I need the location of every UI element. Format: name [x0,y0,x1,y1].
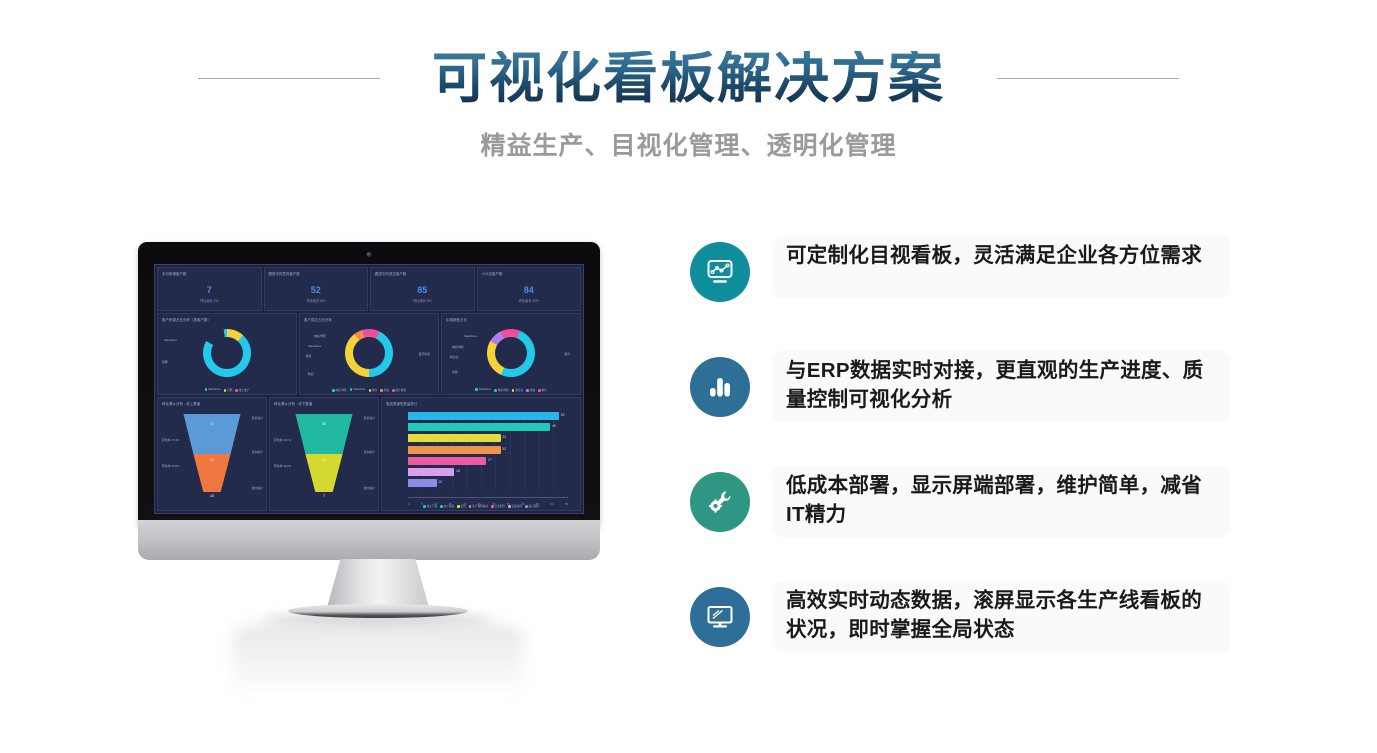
legend-item: 金融 [526,388,535,392]
donut-label: 教育 [564,352,570,356]
feature-text: 低成本部署，显示屏端部署，维护简单，减省IT精力 [786,471,1216,529]
bar-row: 27 [408,457,568,465]
bar-row: 10 [408,479,568,487]
chart-title: 转化漏斗分析 - 线上渠道 [162,401,200,406]
feature-text: 高效实时动态数据，滚屏显示各生产线看板的状况，即时掌握全局状态 [786,586,1216,644]
funnel-rate-label: 转化率 44.1% [274,438,291,442]
monitor-chin [138,520,600,560]
donut-chart-card: 客户来源占比分析（按客户数） Salesforce 官网 线上推广 电子商务 S… [157,313,297,395]
legend-item: 教育 [538,388,547,392]
bar-chart-axis [408,497,568,498]
legend-item: 五金配件 [491,504,505,508]
kpi-title: 小计总客户数 [482,271,503,276]
legend-item: 电商/零售 [332,388,347,392]
legend-item: 电子产品 [423,504,437,508]
kpi-title: 跟进中的成交客户数 [375,271,406,276]
donut-label: 电商/零售 [452,345,464,349]
kpi-card: 跟进中的意向客户数 52 环比增长 6% [264,267,369,311]
monitor-illustration: 本月新增客户数 7 环比增长 2% 跟进中的意向客户数 52 环比增长 6% 跟… [118,232,638,682]
legend-item: 医疗健康 [392,388,406,392]
legend-item: 制造 [380,388,389,392]
legend-item: Salesforce [205,388,221,392]
kpi-card: 跟进中的成交客户数 85 环比增长 9% [370,267,475,311]
legend-item: 线上推广 [235,388,249,392]
dashboard-bottom-row: 转化漏斗分析 - 线上渠道 转化率 47.4% 转化率 35.9% 目标客户 意… [157,397,581,511]
chart-legend: 电子产品 办公用品 家具 生产辅料耗材 五金配件 包装材料 其它耗材 [382,504,580,508]
donut-label: 电商/零售 [314,334,326,338]
kpi-value: 52 [265,285,368,295]
title-rule-right [997,78,1179,79]
donut-ring [487,329,535,377]
bar-row: 32 [408,446,568,454]
chart-legend: Salesforce 电商/零售 制造业 金融 教育 [442,388,580,392]
legend-item: 教育 [369,388,378,392]
chart-legend: Salesforce 官网 线上推广 [158,388,296,392]
page-header: 可视化看板解决方案 精益生产、目视化管理、透明化管理 [0,0,1377,185]
chart-title: 转化漏斗分析 - 线下渠道 [274,401,312,406]
funnel-chart-card: 转化漏斗分析 - 线下渠道 转化率 44.1% 转化率 38.2% 目标客户 意… [269,397,379,511]
funnel-segment-top [181,414,243,454]
page-subtitle: 精益生产、目视化管理、透明化管理 [0,126,1377,162]
donut-label: 金融 [452,370,458,374]
donut-label: Salesforce [308,344,321,348]
funnel-stage-label: 成交客户 [364,486,375,490]
bar-value: 49 [552,424,556,428]
donut-ring [345,329,393,377]
funnel-stage-label: 意向客户 [252,450,263,454]
funnel-shape: 17 14 10 [181,414,243,492]
funnel-chart-card: 转化漏斗分析 - 线上渠道 转化率 47.4% 转化率 35.9% 目标客户 意… [157,397,267,511]
donut-label: 教育 [306,354,312,358]
bar-chart-icon [690,357,750,417]
funnel-value: 17 [181,422,243,426]
feature-text-panel: 低成本部署，显示屏端部署，维护简单，减省IT精力 [772,466,1230,537]
funnel-value: 25 [293,422,355,426]
title-rule-left [198,78,380,79]
monitor-stand-base [288,604,468,618]
bar-chart-plot: 52 49 32 32 [408,412,568,490]
bar-value: 32 [502,447,506,451]
kpi-value: 84 [478,285,581,295]
chart-title: 客户成交占比分析 [304,317,332,322]
chart-title: 客户来源占比分析（按客户数） [162,317,211,322]
bar-row: 49 [408,423,568,431]
legend-item: Salesforce [350,388,366,392]
donut-label: 制造业 [450,355,458,359]
bar-value: 32 [502,435,506,439]
chart-title: 区域销售占比 [446,317,467,322]
bar-value: 16 [456,469,460,473]
kpi-card: 本月新增客户数 7 环比增长 2% [157,267,262,311]
kpi-delta: 环比增长 10% [478,298,581,303]
funnel-stage-label: 意向客户 [364,450,375,454]
kpi-delta: 环比增长 2% [158,298,261,303]
legend-item: 电商/零售 [494,388,509,392]
donut-label: Salesforce [164,338,177,342]
funnel-rate-label: 转化率 38.2% [274,464,291,468]
feature-text: 与ERP数据实时对接，更直观的生产进度、质量控制可视化分析 [786,356,1216,414]
legend-item: 生产辅料耗材 [469,504,488,508]
monitor-body: 本月新增客户数 7 环比增长 2% 跟进中的意向客户数 52 环比增长 6% 跟… [138,242,600,527]
donut-label: 制造 [308,372,314,376]
monitor-screen: 本月新增客户数 7 环比增长 2% 跟进中的意向客户数 52 环比增长 6% 跟… [154,264,584,514]
funnel-value: 7 [293,494,355,498]
funnel-shape: 25 12 7 [293,414,355,492]
feature-item-3[interactable]: 低成本部署，显示屏端部署，维护简单，减省IT精力 [690,466,1230,544]
webcam-icon [367,252,372,257]
chart-title: 各品类销售数量统计 [386,401,417,406]
funnel-segment-top [293,414,355,454]
feature-list: 可定制化目视看板，灵活满足企业各方位需求 与ERP数据实时对接，更直观的生产进度… [690,236,1230,659]
kpi-delta: 环比增长 9% [371,298,474,303]
dashboard-kpi-row: 本月新增客户数 7 环比增长 2% 跟进中的意向客户数 52 环比增长 6% 跟… [157,267,581,311]
kpi-delta: 环比增长 6% [265,298,368,303]
funnel-stage-label: 成交客户 [252,486,263,490]
funnel-stage-label: 目标客户 [364,416,375,420]
donut-chart-card: 客户成交占比分析 电商/零售 Salesforce 教育 制造 医疗健康 电商/… [299,313,439,395]
display-screen-icon [690,587,750,647]
legend-item: 制造业 [512,388,523,392]
donut-ring [203,329,251,377]
kpi-card: 小计总客户数 84 环比增长 10% [477,267,582,311]
funnel-value: 12 [293,458,355,462]
legend-item: 办公用品 [440,504,454,508]
dashboard: 本月新增客户数 7 环比增长 2% 跟进中的意向客户数 52 环比增长 6% 跟… [155,265,583,513]
funnel-rate-label: 转化率 35.9% [162,464,179,468]
donut-label: Salesforce [464,334,477,338]
funnel-value: 10 [181,494,243,498]
legend-item: 官网 [224,388,233,392]
wrench-gear-icon [690,472,750,532]
monitor-reflection [233,618,523,698]
funnel-value: 14 [181,458,243,462]
donut-label: 医疗健康 [419,352,430,356]
feature-text-panel: 与ERP数据实时对接，更直观的生产进度、质量控制可视化分析 [772,351,1230,422]
donut-chart-card: 区域销售占比 Salesforce 电商/零售 制造业 金融 教育 Salesf… [441,313,581,395]
feature-text-panel: 高效实时动态数据，滚屏显示各生产线看板的状况，即时掌握全局状态 [772,581,1230,652]
title-row: 可视化看板解决方案 [0,42,1377,114]
feature-item-1[interactable]: 可定制化目视看板，灵活满足企业各方位需求 [690,236,1230,314]
funnel-stage-label: 目标客户 [252,416,263,420]
bar-value: 52 [561,413,565,417]
kpi-value: 85 [371,285,474,295]
feature-text-panel: 可定制化目视看板，灵活满足企业各方位需求 [772,236,1230,298]
legend-item: 包装材料 [508,504,522,508]
bar-value: 10 [438,480,442,484]
bar-row: 32 [408,434,568,442]
bar-row: 52 [408,412,568,420]
monitor-line-chart-icon [690,242,750,302]
bar-chart-card: 各品类销售数量统计 52 [381,397,581,511]
kpi-title: 本月新增客户数 [162,271,186,276]
kpi-value: 7 [158,285,261,295]
dashboard-donut-row: 客户来源占比分析（按客户数） Salesforce 官网 线上推广 电子商务 S… [157,313,581,395]
legend-item: 其它耗材 [525,504,539,508]
legend-item: 家具 [457,504,466,508]
page-title: 可视化看板解决方案 [432,51,945,106]
kpi-title: 跟进中的意向客户数 [269,271,300,276]
funnel-rate-label: 转化率 47.4% [162,438,179,442]
bar-row: 16 [408,468,568,476]
donut-label: 官网 [162,360,168,364]
feature-item-2[interactable]: 与ERP数据实时对接，更直观的生产进度、质量控制可视化分析 [690,351,1230,429]
chart-legend: 电商/零售 Salesforce 教育 制造 医疗健康 [300,388,438,392]
bar-value: 27 [488,458,492,462]
feature-text: 可定制化目视看板，灵活满足企业各方位需求 [786,241,1202,270]
legend-item: Salesforce [475,388,491,392]
feature-item-4[interactable]: 高效实时动态数据，滚屏显示各生产线看板的状况，即时掌握全局状态 [690,581,1230,659]
